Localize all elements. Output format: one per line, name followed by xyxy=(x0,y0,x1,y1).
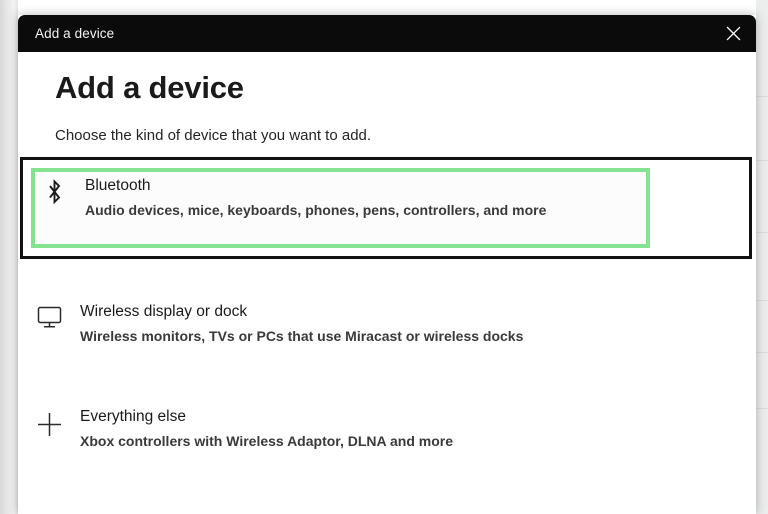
bluetooth-icon xyxy=(46,179,63,209)
device-title: Wireless display or dock xyxy=(80,301,523,323)
device-description: Audio devices, mice, keyboards, phones, … xyxy=(85,199,546,221)
device-title: Everything else xyxy=(80,406,453,428)
device-icon-slot xyxy=(23,167,85,209)
device-description: Wireless monitors, TVs or PCs that use M… xyxy=(80,325,523,347)
device-kind-list: Bluetooth Audio devices, mice, keyboards… xyxy=(18,157,756,466)
dialog-body: Add a device Choose the kind of device t… xyxy=(18,52,756,514)
titlebar-title: Add a device xyxy=(35,26,114,41)
add-a-device-dialog: Add a device Add a device Choose the kin… xyxy=(18,15,756,514)
device-description: Xbox controllers with Wireless Adaptor, … xyxy=(80,430,453,452)
page-divider xyxy=(756,96,768,97)
device-option-wireless-display-or-dock[interactable]: Wireless display or dock Wireless monito… xyxy=(18,289,756,361)
selection-outline: Bluetooth Audio devices, mice, keyboards… xyxy=(20,157,752,259)
page-divider xyxy=(756,232,768,233)
dialog-titlebar: Add a device xyxy=(18,15,756,52)
device-icon-slot xyxy=(18,394,80,444)
page-subtitle: Choose the kind of device that you want … xyxy=(55,127,371,144)
page-title: Add a device xyxy=(55,70,244,106)
device-text-slot: Wireless display or dock Wireless monito… xyxy=(80,289,523,347)
device-title: Bluetooth xyxy=(85,175,546,197)
page-left-gutter xyxy=(0,0,18,514)
plus-icon xyxy=(36,411,63,444)
page-divider xyxy=(756,300,768,301)
page-divider xyxy=(756,160,768,161)
device-icon-slot xyxy=(18,289,80,334)
device-text-slot: Bluetooth Audio devices, mice, keyboards… xyxy=(85,167,546,221)
device-option-everything-else[interactable]: Everything else Xbox controllers with Wi… xyxy=(18,394,756,466)
page-right-content xyxy=(756,0,768,514)
close-button[interactable] xyxy=(710,15,756,52)
device-option-bluetooth[interactable]: Bluetooth Audio devices, mice, keyboards… xyxy=(23,167,749,255)
page-divider xyxy=(756,352,768,353)
page-divider xyxy=(756,408,768,409)
device-text-slot: Everything else Xbox controllers with Wi… xyxy=(80,394,453,452)
monitor-icon xyxy=(37,306,62,334)
close-icon xyxy=(726,26,741,41)
